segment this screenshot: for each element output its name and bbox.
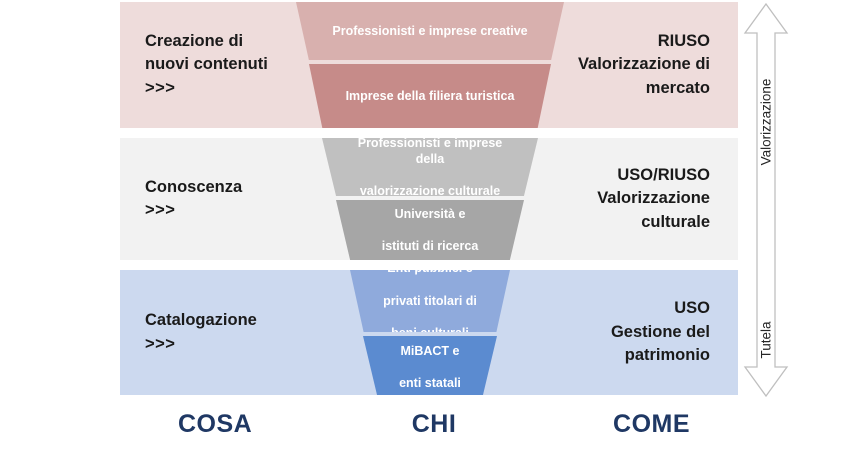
left-title-line2: nuovi contenuti xyxy=(145,53,268,76)
band-creazione-left-label: Creazione di nuovi contenuti >>> xyxy=(120,2,310,128)
funnel-segment-universita-ricerca: Università e istituti di ricerca xyxy=(336,200,524,260)
axis-label-tutela: Tutela xyxy=(759,321,774,358)
funnel-segment-label: Imprese della filiera turistica xyxy=(336,88,525,104)
band-catalogazione-left-label: Catalogazione >>> xyxy=(120,270,310,395)
vertical-axis-arrow: Valorizzazione Tutela xyxy=(742,2,790,398)
right-title: USO/RIUSO xyxy=(617,164,710,187)
footer-label-cosa: COSA xyxy=(120,400,349,448)
funnel-segment-label: Enti pubblici e privati titolari di beni… xyxy=(363,270,497,342)
funnel-segment-label: MiBACT e enti statali xyxy=(379,343,481,392)
axis-label-valorizzazione: Valorizzazione xyxy=(759,79,774,166)
funnel-label-line1: Professionisti e imprese della xyxy=(332,138,528,167)
footer-label-chi: CHI xyxy=(349,400,520,448)
funnel-segment-enti-pubblici-privati: Enti pubblici e privati titolari di beni… xyxy=(350,270,510,332)
funnel-segment-imprese-turistica: Imprese della filiera turistica xyxy=(309,64,551,128)
right-line2: Gestione del xyxy=(611,321,710,344)
funnel-segment-professionisti-valorizzazione: Professionisti e imprese della valorizza… xyxy=(322,138,538,196)
left-chevron: >>> xyxy=(145,77,175,100)
funnel-label-line1: Enti pubblici e xyxy=(373,270,487,277)
diagram-canvas: Creazione di nuovi contenuti >>> Profess… xyxy=(0,0,864,462)
funnel-label-line2: istituti di ricerca xyxy=(372,238,489,254)
right-line3: culturale xyxy=(641,211,710,234)
right-line2: Valorizzazione di xyxy=(578,53,710,76)
funnel-label-line1: MiBACT e xyxy=(389,343,471,359)
band-conoscenza: Conoscenza >>> Professionisti e imprese … xyxy=(120,138,738,260)
band-creazione: Creazione di nuovi contenuti >>> Profess… xyxy=(120,2,738,128)
footer-categories: COSA CHI COME xyxy=(120,400,738,448)
band-catalogazione-right-label: USO Gestione del patrimonio xyxy=(538,270,738,395)
left-title-line1: Catalogazione xyxy=(145,309,257,332)
funnel-segment-professionisti-creative: Professionisti e imprese creative xyxy=(296,2,564,60)
funnel-label-line2: enti statali xyxy=(389,375,471,391)
right-title: RIUSO xyxy=(658,30,710,53)
band-creazione-right-label: RIUSO Valorizzazione di mercato xyxy=(538,2,738,128)
funnel-label-line2: valorizzazione culturale xyxy=(332,183,528,199)
left-chevron: >>> xyxy=(145,333,175,356)
funnel-segment-label: Professionisti e imprese creative xyxy=(322,23,537,39)
band-conoscenza-left-label: Conoscenza >>> xyxy=(120,138,310,260)
footer-label-come: COME xyxy=(519,400,738,448)
right-line3: mercato xyxy=(646,77,710,100)
funnel-segment-label: Professionisti e imprese della valorizza… xyxy=(322,138,538,200)
band-catalogazione: Catalogazione >>> Enti pubblici e privat… xyxy=(120,270,738,395)
left-chevron: >>> xyxy=(145,199,175,222)
right-line2: Valorizzazione xyxy=(597,187,710,210)
right-title: USO xyxy=(674,297,710,320)
band-conoscenza-right-label: USO/RIUSO Valorizzazione culturale xyxy=(538,138,738,260)
left-title-line1: Conoscenza xyxy=(145,176,242,199)
right-line3: patrimonio xyxy=(625,344,710,367)
funnel-segment-label: Università e istituti di ricerca xyxy=(362,206,499,255)
funnel-label-line2: privati titolari di xyxy=(373,293,487,309)
funnel-label-line1: Università e xyxy=(372,206,489,222)
funnel-segment-mibact-enti-statali: MiBACT e enti statali xyxy=(363,336,497,395)
left-title-line1: Creazione di xyxy=(145,30,243,53)
